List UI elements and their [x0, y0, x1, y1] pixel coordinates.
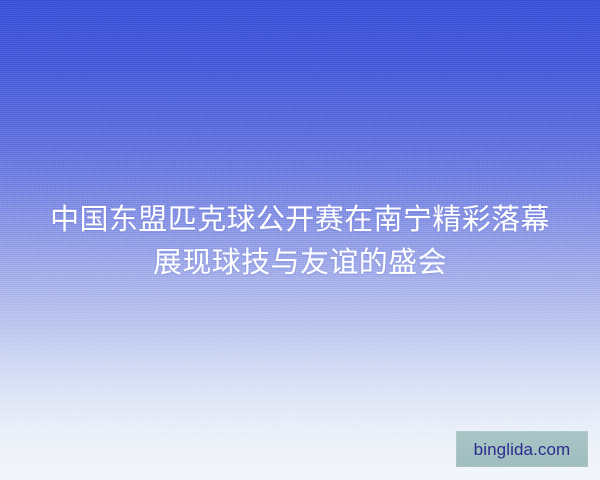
- watermark-badge: binglida.com: [456, 431, 588, 467]
- banner-screenshot: 中国东盟匹克球公开赛在南宁精彩落幕 展现球技与友谊的盛会 binglida.co…: [0, 0, 600, 480]
- watermark-label: binglida.com: [474, 441, 571, 458]
- headline-block: 中国东盟匹克球公开赛在南宁精彩落幕 展现球技与友谊的盛会: [0, 199, 600, 285]
- headline-line-2: 展现球技与友谊的盛会: [0, 242, 600, 285]
- headline-line-1: 中国东盟匹克球公开赛在南宁精彩落幕: [0, 199, 600, 242]
